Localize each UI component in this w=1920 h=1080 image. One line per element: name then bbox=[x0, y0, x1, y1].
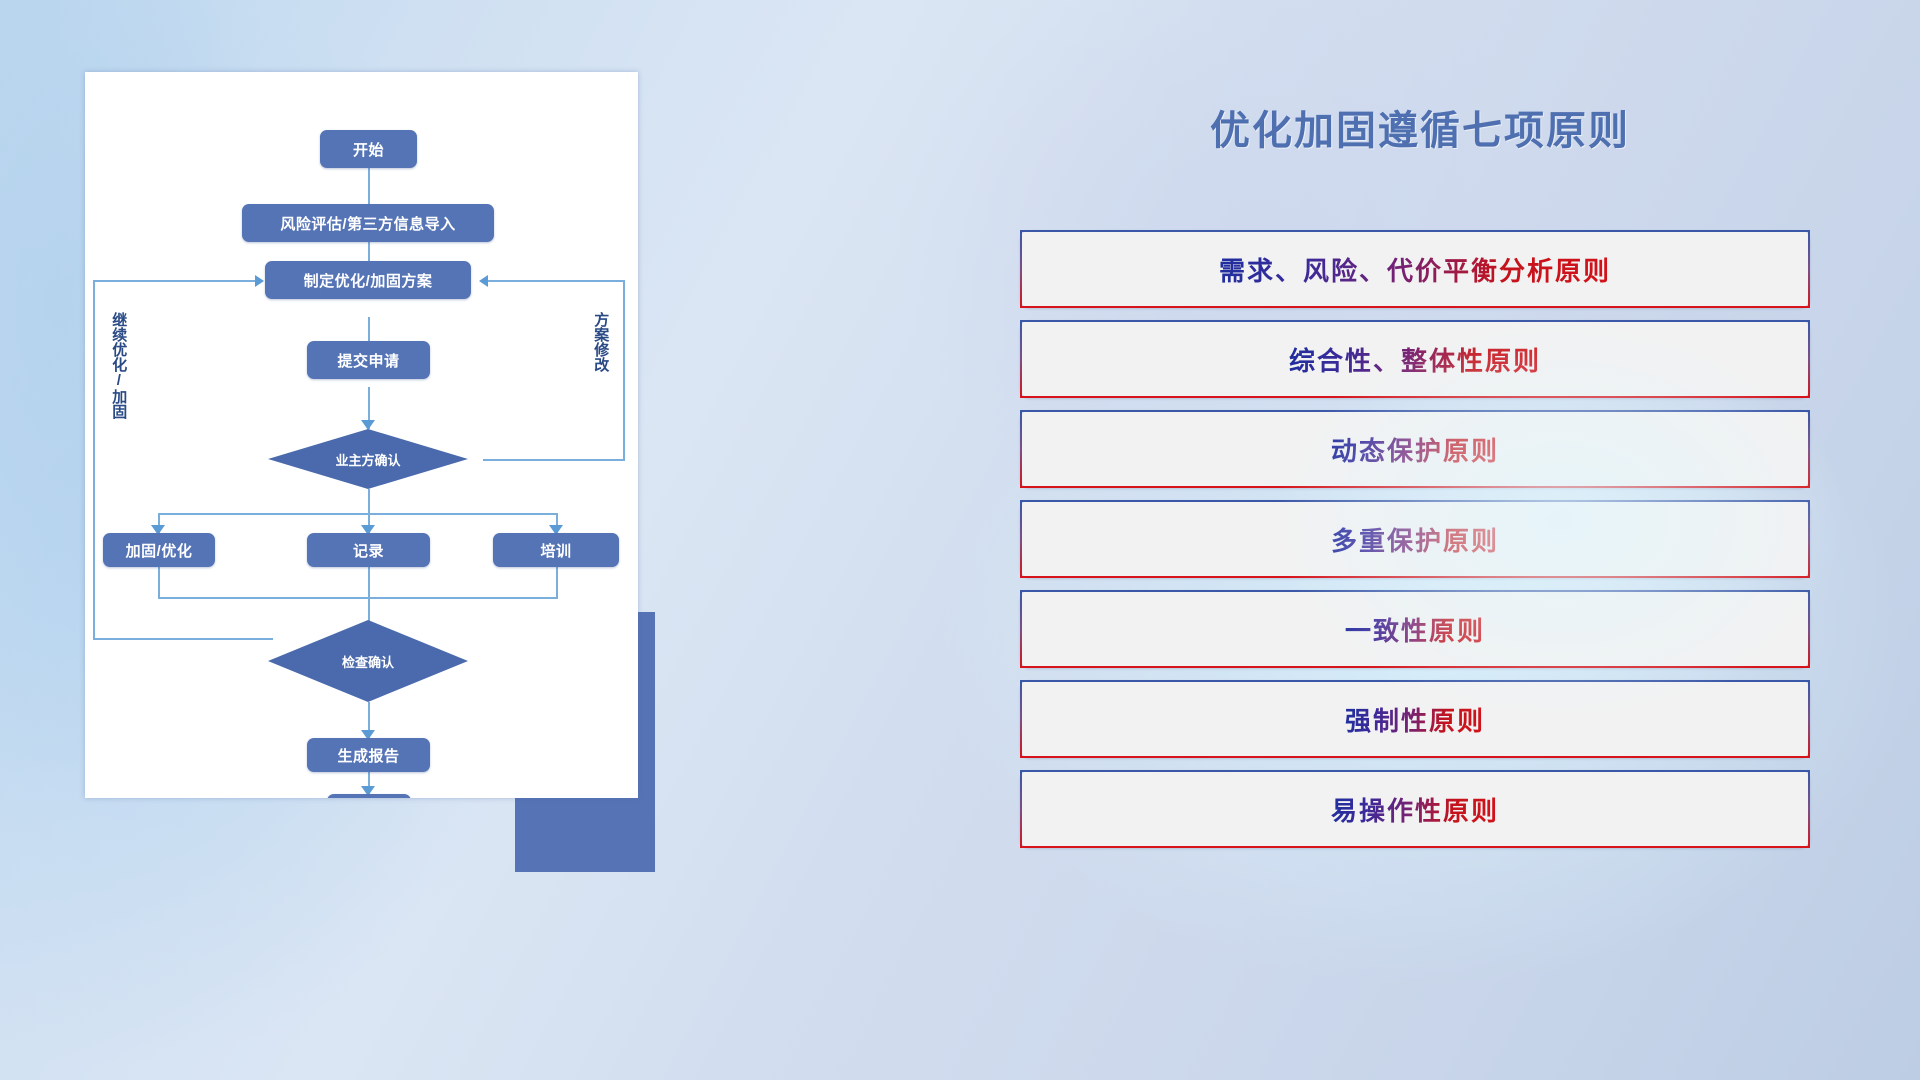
flow-node-generate-report[interactable]: 生成报告 bbox=[307, 738, 430, 772]
arrowhead-right bbox=[255, 275, 264, 287]
connector-loop-left-vertical bbox=[93, 280, 95, 640]
flow-node-make-plan[interactable]: 制定优化/加固方案 bbox=[265, 261, 471, 299]
principle-item[interactable]: 动态保护原则 bbox=[1020, 410, 1810, 488]
flow-node-training[interactable]: 培训 bbox=[493, 533, 619, 567]
flow-node-inspect-confirm[interactable]: 检查确认 bbox=[268, 620, 468, 702]
connector-fanout-bus bbox=[158, 513, 558, 515]
slide-canvas: 继续优化/加固 方案修改 bbox=[0, 0, 1920, 1080]
flow-node-submit-application[interactable]: 提交申请 bbox=[307, 341, 430, 379]
connector-loop-left-top bbox=[93, 280, 258, 282]
principle-label: 强制性原则 bbox=[1345, 701, 1485, 738]
connector-training-down bbox=[556, 567, 558, 597]
flow-node-end[interactable]: 结束 bbox=[327, 794, 411, 798]
principle-list: 需求、风险、代价平衡分析原则 综合性、整体性原则 动态保护原则 多重保护原则 一… bbox=[1020, 230, 1810, 860]
connector-owner-to-bus bbox=[368, 489, 370, 513]
page-title: 优化加固遵循七项原则 bbox=[1020, 98, 1820, 156]
connector-loop-right-vertical bbox=[623, 280, 625, 461]
flowchart-panel: 继续优化/加固 方案修改 bbox=[85, 72, 725, 832]
principle-item[interactable]: 强制性原则 bbox=[1020, 680, 1810, 758]
principle-item[interactable]: 综合性、整体性原则 bbox=[1020, 320, 1810, 398]
principle-label: 综合性、整体性原则 bbox=[1289, 341, 1541, 378]
principle-item[interactable]: 易操作性原则 bbox=[1020, 770, 1810, 848]
flow-node-start[interactable]: 开始 bbox=[320, 130, 417, 168]
principle-item[interactable]: 多重保护原则 bbox=[1020, 500, 1810, 578]
principle-item[interactable]: 需求、风险、代价平衡分析原则 bbox=[1020, 230, 1810, 308]
connector-loop-right-bottom bbox=[483, 459, 625, 461]
principle-label: 多重保护原则 bbox=[1331, 521, 1499, 558]
principle-item[interactable]: 一致性原则 bbox=[1020, 590, 1810, 668]
principle-label: 一致性原则 bbox=[1345, 611, 1485, 648]
flow-node-record[interactable]: 记录 bbox=[307, 533, 430, 567]
connector-reinforce-down bbox=[158, 567, 160, 597]
flow-node-owner-confirm[interactable]: 业主方确认 bbox=[268, 429, 468, 489]
principles-panel: 优化加固遵循七项原则 需求、风险、代价平衡分析原则 综合性、整体性原则 动态保护… bbox=[1020, 90, 1820, 1000]
connector-loop-left-bottom bbox=[93, 638, 273, 640]
flow-node-reinforce-optimize[interactable]: 加固/优化 bbox=[103, 533, 215, 567]
edge-label-continue-optimize: 继续优化/加固 bbox=[111, 312, 126, 419]
flow-node-risk-assessment[interactable]: 风险评估/第三方信息导入 bbox=[242, 204, 494, 242]
principle-label: 需求、风险、代价平衡分析原则 bbox=[1219, 251, 1611, 288]
arrowhead-down bbox=[361, 420, 375, 430]
edge-label-plan-revise: 方案修改 bbox=[593, 312, 608, 372]
arrowhead-left bbox=[479, 275, 488, 287]
connector-loop-right-top bbox=[488, 280, 624, 282]
principle-label: 动态保护原则 bbox=[1331, 431, 1499, 468]
connector-merge-bus bbox=[158, 597, 558, 599]
principle-label: 易操作性原则 bbox=[1331, 791, 1499, 828]
flowchart-card: 继续优化/加固 方案修改 bbox=[85, 72, 638, 798]
